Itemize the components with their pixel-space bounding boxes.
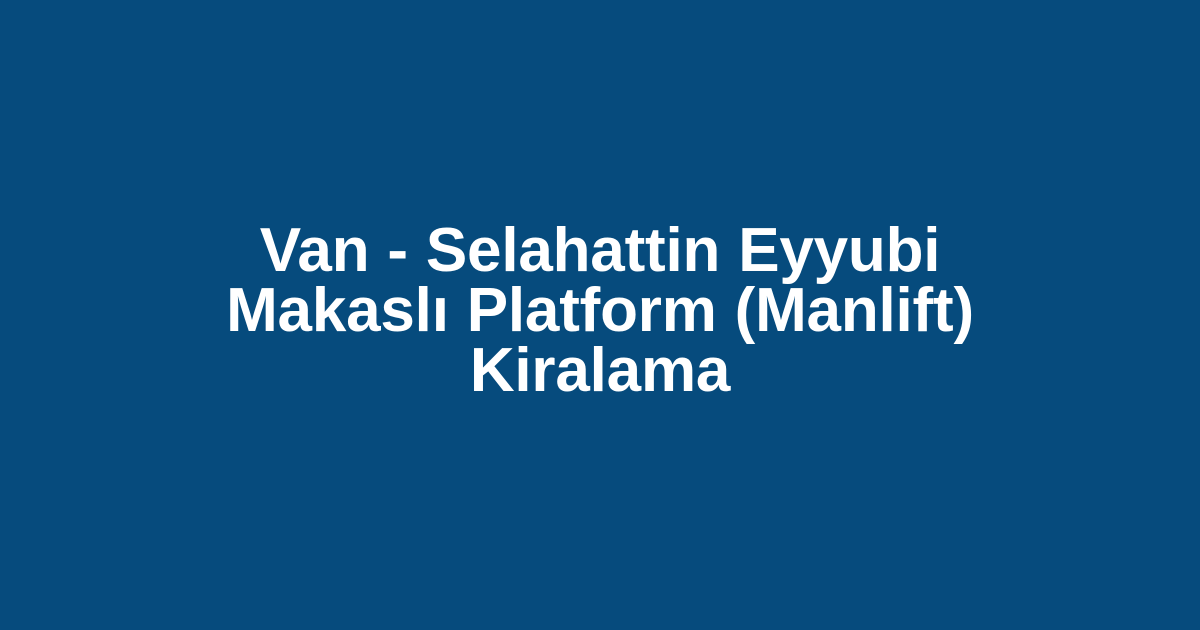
share-card: Van - Selahattin Eyyubi Makaslı Platform… (0, 0, 1200, 630)
page-title: Van - Selahattin Eyyubi Makaslı Platform… (170, 221, 1030, 401)
headline-block: Van - Selahattin Eyyubi Makaslı Platform… (170, 221, 1030, 401)
